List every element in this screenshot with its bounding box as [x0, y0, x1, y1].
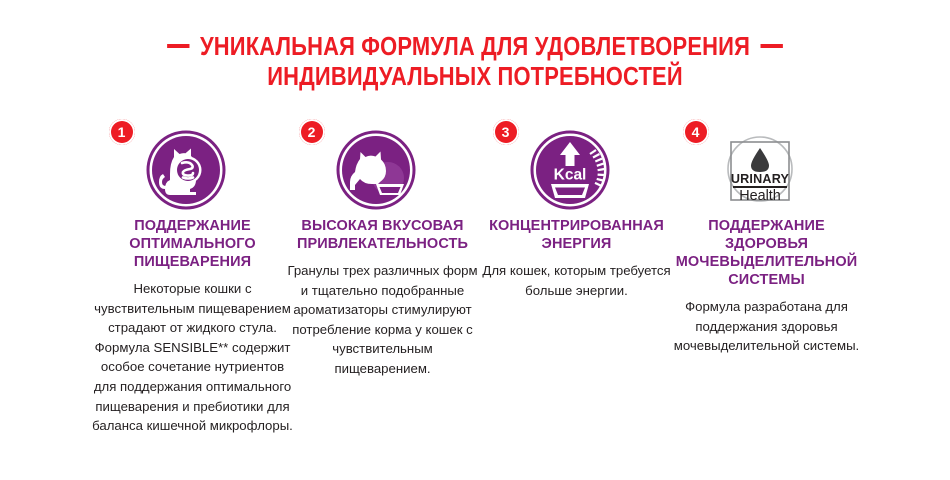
cat-digestion-icon	[146, 130, 226, 210]
title-text-1: УНИКАЛЬНАЯ ФОРМУЛА ДЛЯ УДОВЛЕТВОРЕНИЯ	[200, 33, 750, 61]
benefit-body-4: Формула разработана для поддержания здор…	[672, 297, 862, 356]
benefit-column-1: 1 ПОДДЕРЖАНИЕ ОПТИМАЛЬНОГО ПИЩЕВАРЕНИЯ Н…	[98, 118, 288, 436]
page-title: УНИКАЛЬНАЯ ФОРМУЛА ДЛЯ УДОВЛЕТВОРЕНИЯ ИН…	[0, 32, 950, 92]
urinary-label: URINARY	[730, 172, 789, 186]
benefit-body-1: Некоторые кошки с чувствительным пищевар…	[90, 279, 296, 436]
dash-left-icon	[167, 44, 189, 48]
title-line-2: ИНДИВИДУАЛЬНЫХ ПОТРЕБНОСТЕЙ	[67, 62, 884, 92]
cat-eating-bowl-icon	[336, 130, 416, 210]
benefit-column-2: 2 ВЫСОКАЯ ВКУСОВАЯ ПРИВЛЕКАТЕЛЬНОСТЬ Гра…	[288, 118, 478, 379]
benefit-body-3: Для кошек, которым требуется больше энер…	[479, 261, 675, 300]
benefits-row: 1 ПОДДЕРЖАНИЕ ОПТИМАЛЬНОГО ПИЩЕВАРЕНИЯ Н…	[0, 118, 950, 436]
title-line-1: УНИКАЛЬНАЯ ФОРМУЛА ДЛЯ УДОВЛЕТВОРЕНИЯ	[67, 32, 884, 62]
benefit-heading-2: ВЫСОКАЯ ВКУСОВАЯ ПРИВЛЕКАТЕЛЬНОСТЬ	[287, 217, 479, 253]
dash-right-icon	[760, 44, 782, 48]
benefit-heading-3: КОНЦЕНТРИРОВАННАЯ ЭНЕРГИЯ	[481, 217, 673, 253]
icon-area-4: 4 URINARY Health	[672, 118, 862, 210]
health-label: Health	[739, 188, 781, 204]
title-text-2: ИНДИВИДУАЛЬНЫХ ПОТРЕБНОСТЕЙ	[267, 63, 683, 91]
urinary-health-badge-icon: URINARY Health	[720, 130, 800, 210]
kcal-energy-bowl-icon: Kcal	[530, 130, 610, 210]
benefit-column-3: 3	[482, 118, 672, 300]
step-badge-2: 2	[299, 119, 325, 145]
icon-area-1: 1	[98, 118, 288, 210]
step-badge-1: 1	[109, 119, 135, 145]
benefit-heading-4: ПОДДЕРЖАНИЕ ЗДОРОВЬЯ МОЧЕВЫДЕЛИТЕЛЬНОЙ С…	[669, 217, 865, 289]
benefit-body-2: Гранулы трех различных форм и тщательно …	[285, 261, 481, 379]
icon-area-2: 2	[288, 118, 478, 210]
icon-area-3: 3	[482, 118, 672, 210]
step-badge-3: 3	[493, 119, 519, 145]
benefit-column-4: 4 URINARY Health ПОДДЕРЖАНИЕ ЗДОРОВЬЯ МО…	[672, 118, 862, 356]
kcal-label: Kcal	[553, 167, 586, 184]
step-badge-4: 4	[683, 119, 709, 145]
benefit-heading-1: ПОДДЕРЖАНИЕ ОПТИМАЛЬНОГО ПИЩЕВАРЕНИЯ	[97, 217, 289, 271]
